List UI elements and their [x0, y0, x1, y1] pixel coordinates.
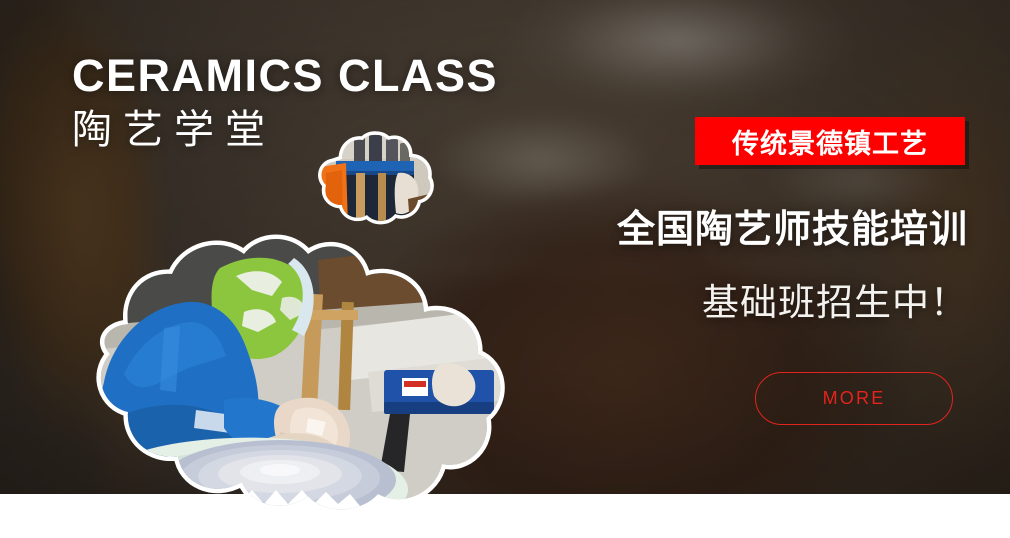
title-block: CERAMICS CLASS 陶艺学堂	[72, 52, 542, 152]
title-chinese: 陶艺学堂	[72, 108, 542, 152]
ceramics-class-banner: CERAMICS CLASS 陶艺学堂	[0, 0, 1010, 538]
headline-secondary: 基础班招生中！	[430, 272, 968, 326]
title-english: CERAMICS CLASS	[72, 52, 542, 99]
tradition-badge: 传统景德镇工艺	[695, 117, 965, 165]
cloud-photo-small	[312, 133, 434, 225]
more-button-label: MORE	[823, 388, 886, 409]
tradition-badge-label: 传统景德镇工艺	[732, 122, 928, 161]
more-button[interactable]: MORE	[755, 372, 953, 425]
headline-primary: 全国陶艺师技能培训	[430, 198, 968, 253]
